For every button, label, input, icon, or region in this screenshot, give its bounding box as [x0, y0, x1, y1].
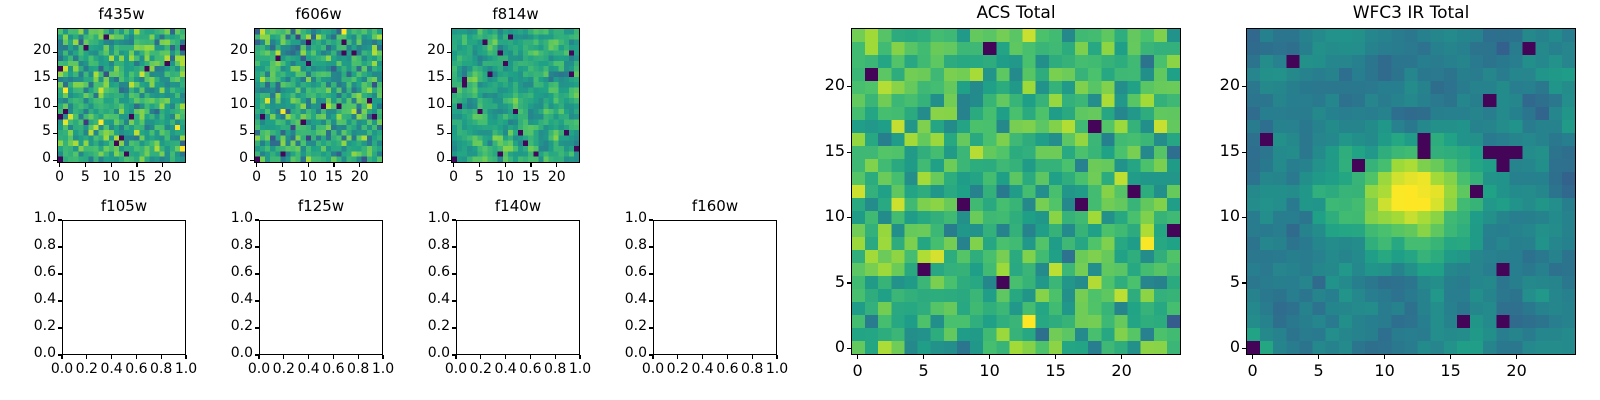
- ytick-f160w-4: [649, 246, 653, 247]
- xtick-f140w-3: [530, 355, 531, 359]
- xtick-f814w-4: [556, 163, 557, 167]
- xtick-f160w-2: [702, 355, 703, 359]
- panel-title-f435w: f435w: [57, 5, 186, 23]
- xtick-acs-total-3: [1055, 355, 1056, 359]
- ytick-f606w-3: [250, 79, 254, 80]
- axes-f160w: [653, 220, 777, 355]
- xticklabel-f160w-5: 1.0: [747, 361, 807, 377]
- yticklabel-f160w-4: 0.8: [577, 237, 647, 253]
- ytick-wfc3-ir-total-1: [1242, 282, 1246, 283]
- ytick-f606w-4: [250, 52, 254, 53]
- yticklabel-f606w-0: 0: [178, 150, 248, 166]
- panel-title-wfc3-ir-total: WFC3 IR Total: [1246, 3, 1576, 23]
- axes-f814w: [451, 28, 580, 163]
- ytick-f105w-2: [58, 300, 62, 301]
- figure-canvas: f435w0510152005101520f606w05101520051015…: [0, 0, 1600, 400]
- yticklabel-f160w-5: 1.0: [577, 210, 647, 226]
- yticklabel-f814w-3: 15: [375, 69, 445, 85]
- xtick-f125w-3: [333, 355, 334, 359]
- xtick-f814w-2: [505, 163, 506, 167]
- xticklabel-f140w-5: 1.0: [550, 361, 610, 377]
- ytick-f125w-5: [255, 219, 259, 220]
- xticklabel-f125w-5: 1.0: [353, 361, 413, 377]
- heatmap-image-f435w: [58, 29, 185, 162]
- xtick-f140w-1: [480, 355, 481, 359]
- xtick-f105w-1: [86, 355, 87, 359]
- xticklabel-acs-total-2: 10: [960, 361, 1020, 380]
- xtick-f125w-4: [358, 355, 359, 359]
- xticklabel-acs-total-4: 20: [1092, 361, 1152, 380]
- yticklabel-wfc3-ir-total-2: 10: [1170, 206, 1240, 225]
- yticklabel-f606w-3: 15: [178, 69, 248, 85]
- yticklabel-f435w-3: 15: [0, 69, 51, 85]
- yticklabel-acs-total-3: 15: [775, 141, 845, 160]
- xticklabel-wfc3-ir-total-0: 0: [1223, 361, 1283, 380]
- ytick-f160w-0: [649, 354, 653, 355]
- xtick-acs-total-4: [1121, 355, 1122, 359]
- yticklabel-f105w-5: 1.0: [0, 210, 56, 226]
- ytick-acs-total-2: [847, 217, 851, 218]
- xtick-f140w-4: [555, 355, 556, 359]
- yticklabel-f140w-1: 0.2: [380, 318, 450, 334]
- yticklabel-f606w-1: 5: [178, 123, 248, 139]
- ytick-f140w-4: [452, 246, 456, 247]
- xtick-wfc3-ir-total-3: [1450, 355, 1451, 359]
- panel-title-acs-total: ACS Total: [851, 3, 1181, 23]
- xtick-f125w-0: [258, 355, 259, 359]
- xticklabel-wfc3-ir-total-2: 10: [1355, 361, 1415, 380]
- ytick-f160w-1: [649, 327, 653, 328]
- ytick-f140w-2: [452, 300, 456, 301]
- yticklabel-f140w-3: 0.6: [380, 264, 450, 280]
- ytick-f606w-1: [250, 133, 254, 134]
- ytick-f140w-3: [452, 273, 456, 274]
- yticklabel-f140w-2: 0.4: [380, 291, 450, 307]
- ytick-f105w-0: [58, 354, 62, 355]
- xtick-f435w-3: [136, 163, 137, 167]
- ytick-f435w-4: [53, 52, 57, 53]
- panel-title-f606w: f606w: [254, 5, 383, 23]
- xtick-f125w-2: [308, 355, 309, 359]
- ytick-f606w-0: [250, 160, 254, 161]
- xtick-f814w-0: [453, 163, 454, 167]
- yticklabel-acs-total-2: 10: [775, 206, 845, 225]
- panel-title-f160w: f160w: [653, 197, 777, 215]
- yticklabel-f125w-1: 0.2: [183, 318, 253, 334]
- yticklabel-wfc3-ir-total-1: 5: [1170, 272, 1240, 291]
- ytick-wfc3-ir-total-0: [1242, 348, 1246, 349]
- yticklabel-f125w-5: 1.0: [183, 210, 253, 226]
- xtick-wfc3-ir-total-0: [1252, 355, 1253, 359]
- ytick-f435w-3: [53, 79, 57, 80]
- panel-title-f125w: f125w: [259, 197, 383, 215]
- yticklabel-f814w-1: 5: [375, 123, 445, 139]
- xtick-f814w-3: [530, 163, 531, 167]
- yticklabel-f435w-2: 10: [0, 96, 51, 112]
- yticklabel-wfc3-ir-total-3: 15: [1170, 141, 1240, 160]
- yticklabel-f160w-3: 0.6: [577, 264, 647, 280]
- ytick-f125w-1: [255, 327, 259, 328]
- xtick-f435w-4: [162, 163, 163, 167]
- ytick-f814w-1: [447, 133, 451, 134]
- ytick-wfc3-ir-total-2: [1242, 217, 1246, 218]
- ytick-wfc3-ir-total-4: [1242, 86, 1246, 87]
- ytick-f105w-3: [58, 273, 62, 274]
- heatmap-image-wfc3-ir-total: [1247, 29, 1575, 354]
- yticklabel-f160w-0: 0.0: [577, 345, 647, 361]
- xtick-f606w-4: [359, 163, 360, 167]
- xticklabel-f814w-4: 20: [527, 169, 587, 185]
- ytick-f814w-4: [447, 52, 451, 53]
- yticklabel-f105w-2: 0.4: [0, 291, 56, 307]
- yticklabel-f140w-4: 0.8: [380, 237, 450, 253]
- axes-f125w: [259, 220, 383, 355]
- yticklabel-acs-total-4: 20: [775, 75, 845, 94]
- ytick-f105w-1: [58, 327, 62, 328]
- xtick-wfc3-ir-total-4: [1516, 355, 1517, 359]
- ytick-f435w-0: [53, 160, 57, 161]
- xticklabel-wfc3-ir-total-3: 15: [1421, 361, 1481, 380]
- xtick-f140w-2: [505, 355, 506, 359]
- xtick-f435w-1: [85, 163, 86, 167]
- yticklabel-acs-total-1: 5: [775, 272, 845, 291]
- yticklabel-f160w-1: 0.2: [577, 318, 647, 334]
- axes-wfc3-ir-total: [1246, 28, 1576, 355]
- xtick-acs-total-1: [923, 355, 924, 359]
- yticklabel-f105w-0: 0.0: [0, 345, 56, 361]
- ytick-f814w-2: [447, 106, 451, 107]
- xticklabel-f606w-4: 20: [330, 169, 390, 185]
- xtick-f105w-4: [161, 355, 162, 359]
- ytick-acs-total-3: [847, 152, 851, 153]
- ytick-f140w-5: [452, 219, 456, 220]
- heatmap-image-acs-total: [852, 29, 1180, 354]
- ytick-f160w-5: [649, 219, 653, 220]
- ytick-f125w-0: [255, 354, 259, 355]
- yticklabel-f105w-1: 0.2: [0, 318, 56, 334]
- yticklabel-f160w-2: 0.4: [577, 291, 647, 307]
- axes-f105w: [62, 220, 186, 355]
- ytick-f814w-3: [447, 79, 451, 80]
- xtick-f105w-3: [136, 355, 137, 359]
- ytick-f125w-2: [255, 300, 259, 301]
- yticklabel-f105w-4: 0.8: [0, 237, 56, 253]
- ytick-f160w-3: [649, 273, 653, 274]
- panel-title-f105w: f105w: [62, 197, 186, 215]
- axes-f140w: [456, 220, 580, 355]
- ytick-f435w-2: [53, 106, 57, 107]
- ytick-wfc3-ir-total-3: [1242, 152, 1246, 153]
- xtick-f606w-3: [333, 163, 334, 167]
- yticklabel-f814w-4: 20: [375, 42, 445, 58]
- xtick-f125w-1: [283, 355, 284, 359]
- yticklabel-f435w-1: 5: [0, 123, 51, 139]
- yticklabel-f606w-4: 20: [178, 42, 248, 58]
- axes-acs-total: [851, 28, 1181, 355]
- xtick-f435w-2: [111, 163, 112, 167]
- xtick-f160w-1: [677, 355, 678, 359]
- axes-f435w: [57, 28, 186, 163]
- ytick-f140w-0: [452, 354, 456, 355]
- xticklabel-acs-total-1: 5: [894, 361, 954, 380]
- xtick-f606w-0: [256, 163, 257, 167]
- yticklabel-f105w-3: 0.6: [0, 264, 56, 280]
- yticklabel-f435w-4: 20: [0, 42, 51, 58]
- xtick-f140w-0: [455, 355, 456, 359]
- xtick-f606w-2: [308, 163, 309, 167]
- yticklabel-f814w-0: 0: [375, 150, 445, 166]
- yticklabel-f125w-0: 0.0: [183, 345, 253, 361]
- xtick-wfc3-ir-total-2: [1384, 355, 1385, 359]
- ytick-f125w-4: [255, 246, 259, 247]
- yticklabel-f125w-2: 0.4: [183, 291, 253, 307]
- ytick-acs-total-1: [847, 282, 851, 283]
- axes-f606w: [254, 28, 383, 163]
- yticklabel-acs-total-0: 0: [775, 337, 845, 356]
- xticklabel-acs-total-3: 15: [1026, 361, 1086, 380]
- xticklabel-acs-total-0: 0: [828, 361, 888, 380]
- ytick-f105w-5: [58, 219, 62, 220]
- xtick-acs-total-0: [857, 355, 858, 359]
- xtick-wfc3-ir-total-1: [1318, 355, 1319, 359]
- yticklabel-f125w-3: 0.6: [183, 264, 253, 280]
- panel-title-f140w: f140w: [456, 197, 580, 215]
- yticklabel-f606w-2: 10: [178, 96, 248, 112]
- panel-title-f814w: f814w: [451, 5, 580, 23]
- ytick-f140w-1: [452, 327, 456, 328]
- heatmap-image-f606w: [255, 29, 382, 162]
- ytick-f125w-3: [255, 273, 259, 274]
- yticklabel-wfc3-ir-total-0: 0: [1170, 337, 1240, 356]
- yticklabel-f814w-2: 10: [375, 96, 445, 112]
- xticklabel-f105w-5: 1.0: [156, 361, 216, 377]
- yticklabel-f435w-0: 0: [0, 150, 51, 166]
- ytick-acs-total-4: [847, 86, 851, 87]
- xtick-f105w-0: [61, 355, 62, 359]
- ytick-f160w-2: [649, 300, 653, 301]
- xticklabel-wfc3-ir-total-4: 20: [1487, 361, 1547, 380]
- xticklabel-wfc3-ir-total-1: 5: [1289, 361, 1349, 380]
- ytick-acs-total-0: [847, 348, 851, 349]
- xtick-f814w-1: [479, 163, 480, 167]
- xtick-f160w-3: [727, 355, 728, 359]
- xtick-f105w-2: [111, 355, 112, 359]
- ytick-f435w-1: [53, 133, 57, 134]
- ytick-f814w-0: [447, 160, 451, 161]
- ytick-f105w-4: [58, 246, 62, 247]
- yticklabel-wfc3-ir-total-4: 20: [1170, 75, 1240, 94]
- xticklabel-f435w-4: 20: [133, 169, 193, 185]
- yticklabel-f125w-4: 0.8: [183, 237, 253, 253]
- xtick-acs-total-2: [989, 355, 990, 359]
- xtick-f160w-4: [752, 355, 753, 359]
- xtick-f435w-0: [59, 163, 60, 167]
- yticklabel-f140w-0: 0.0: [380, 345, 450, 361]
- heatmap-image-f814w: [452, 29, 579, 162]
- xtick-f160w-0: [652, 355, 653, 359]
- yticklabel-f140w-5: 1.0: [380, 210, 450, 226]
- xtick-f606w-1: [282, 163, 283, 167]
- ytick-f606w-2: [250, 106, 254, 107]
